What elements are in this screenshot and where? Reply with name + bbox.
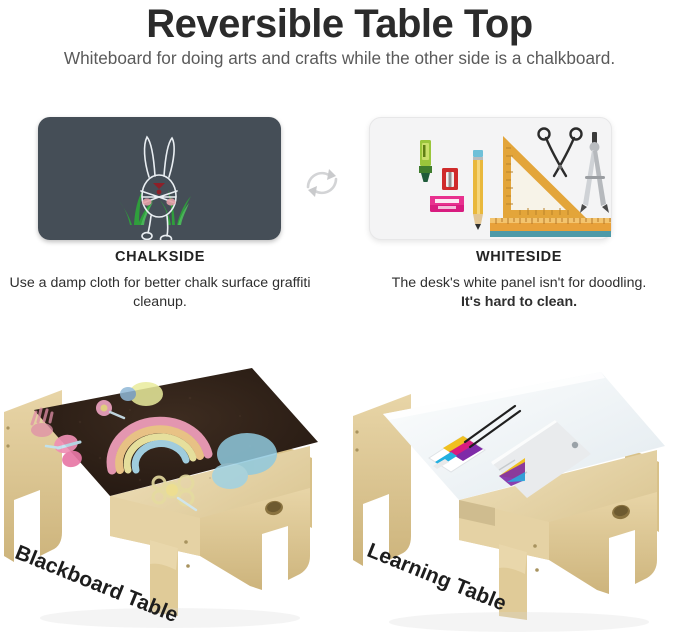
stationery-supplies-icon (370, 118, 611, 239)
page-subtitle: Whiteboard for doing arts and crafts whi… (0, 47, 679, 69)
whiteside-caption-text: The desk's white panel isn't for doodlin… (392, 275, 647, 291)
blackboard-table-photo (0, 350, 340, 640)
chalk-rabbit-drawing-icon (38, 117, 281, 240)
learning-table-photo (339, 350, 679, 640)
whiteside-caption-emphasis: It's hard to clean. (461, 294, 577, 310)
whiteside-caption-title: WHITESIDE (369, 249, 669, 265)
swap-arrows-icon (298, 163, 346, 203)
chalkside-panel (38, 117, 281, 240)
infographic-page: Reversible Table Top Whiteboard for doin… (0, 0, 679, 640)
chalkside-caption-text: Use a damp cloth for better chalk surfac… (10, 275, 311, 310)
chalkside-caption-title: CHALKSIDE (10, 249, 310, 265)
page-title: Reversible Table Top (0, 2, 679, 46)
whiteside-panel (369, 117, 612, 240)
whiteside-caption-body: The desk's white panel isn't for doodlin… (359, 274, 679, 312)
chalkside-caption-body: Use a damp cloth for better chalk surfac… (0, 274, 320, 312)
